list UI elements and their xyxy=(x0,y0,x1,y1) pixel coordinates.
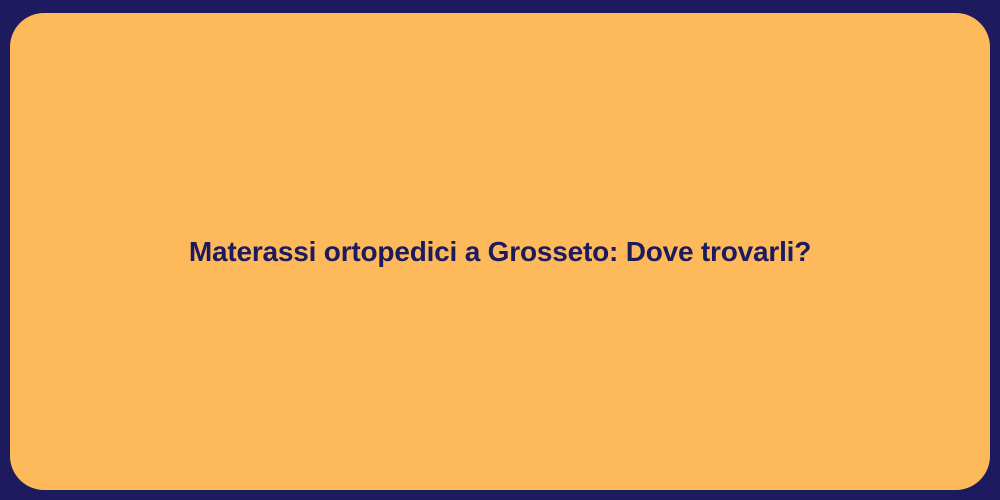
page-title: Materassi ortopedici a Grosseto: Dove tr… xyxy=(10,233,990,271)
hero-card: Materassi ortopedici a Grosseto: Dove tr… xyxy=(10,13,990,490)
page-background: Materassi ortopedici a Grosseto: Dove tr… xyxy=(0,0,1000,500)
